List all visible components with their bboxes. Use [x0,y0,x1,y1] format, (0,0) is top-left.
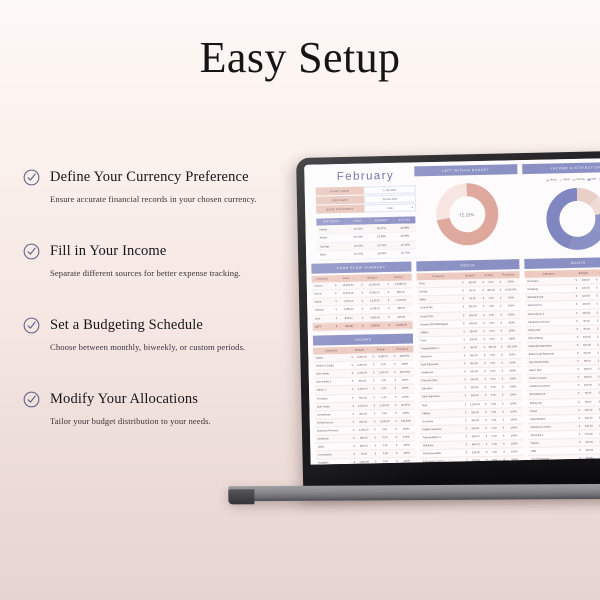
setting-value: 28 Feb 2025 [364,194,416,203]
legend-label: Debt [591,178,596,181]
needs-table-wrap: CategoryBudgetActualProgressRent$100.00$… [417,271,525,464]
laptop-screen: February START DATE1 Feb 2025END DATE28 … [304,158,600,465]
income-distribution-header: INCOME DISTRIBUTION [522,162,600,175]
feature-description: Ensure accurate financial records in you… [50,194,302,204]
feature-item: Modify Your Allocations Tailor your budg… [22,390,302,426]
legend-swatch-icon [588,178,590,180]
feature-item: Set a Budgeting Schedule Choose between … [22,316,302,352]
feature-title: Define Your Currency Preference [50,169,249,186]
feature-description: Choose between monthly, biweekly, or cus… [50,342,302,352]
row-value: 0.00 [486,383,499,391]
row-value: 0.00 [487,400,500,408]
row-value: 0.00 [485,319,498,327]
income-distribution-chart [523,181,600,255]
feature-title: Modify Your Allocations [50,391,198,408]
goal-table-cell: 19.74% [394,249,418,258]
goal-table-wrap: CATEGORYGOALBUDGETACTUALNeeds40.00%55.27… [310,217,411,261]
laptop-base [228,484,600,502]
feature-item: Fill in Your Income Separate different s… [22,242,302,278]
legend-label: Wants [563,178,570,181]
goal-table-cell: 10.00% [347,250,371,259]
feature-title: Set a Budgeting Schedule [50,317,203,334]
legend-item: Savings [573,178,585,181]
income-header: INCOME [313,333,413,346]
needs-table: CategoryBudgetActualProgressRent$100.00$… [417,271,525,464]
goal-table-cell: Debt [317,251,347,260]
feature-list: Define Your Currency Preference Ensure a… [22,168,302,464]
legend-item: Needs [546,179,556,182]
budget-dashboard: February START DATE1 Feb 2025END DATE28 … [304,158,600,465]
income-table: CategoryBudgetActualProgressSalary$3,200… [313,346,416,465]
row-value: 0.00 [487,392,500,400]
row-value: 0.00 [488,448,501,456]
row-value: 0.00 [485,327,498,335]
legend-swatch-icon [560,179,562,181]
budget-percent-label: 72.22% [459,212,475,217]
table-row: Debt10.00%19.04%19.74% [317,249,417,260]
setting-value: 1 Feb 2025 [364,185,416,194]
feature-description: Tailor your budget distribution to your … [50,416,302,426]
wants-table: CategoryBudgetActualProgressGroceries$10… [525,269,600,465]
currency-symbol: $ [596,397,600,405]
total-value: 306.88 [338,322,360,331]
setting-row: BASE CURRENCYUSD [316,203,416,213]
check-circle-icon [22,316,41,335]
wants-header: WANTS [524,256,600,269]
laptop-base-notch [228,489,254,504]
cash-flow-table-wrap: CategoryGoalBudgetActualIncome$19,250.00… [312,274,413,332]
laptop-lid: February START DATE1 Feb 2025END DATE28 … [296,151,600,498]
cash-flow-table: CategoryGoalBudgetActualIncome$19,250.00… [312,274,413,332]
page-title: Easy Setup [0,32,600,83]
setting-label: BASE CURRENCY [316,205,364,214]
needs-header: NEEDS [416,259,519,272]
check-circle-icon [22,390,41,409]
goal-table: CATEGORYGOALBUDGETACTUALNeeds40.00%55.27… [316,216,417,260]
check-circle-icon [22,168,41,187]
cash-flow-header: CASH FLOW SUMMARY [311,261,411,274]
legend-item: Debt [588,178,597,181]
setting-label: START DATE [316,187,364,196]
laptop-mockup: February START DATE1 Feb 2025END DATE28 … [296,151,600,508]
legend-label: Needs [550,179,557,182]
setting-label: END DATE [316,196,364,205]
legend-label: Savings [576,178,585,181]
wants-table-wrap: CategoryBudgetActualProgressGroceries$10… [525,269,600,465]
goal-table-cell: 19.04% [370,250,394,259]
legend-item: Wants [560,178,570,181]
currency-symbol: $ [597,406,600,414]
row-value: 0.00 [485,335,498,343]
total-value: 10,860.70 [390,321,412,330]
check-circle-icon [22,242,41,261]
month-title: February [315,169,415,183]
left-within-budget-chart: 72.22% [414,177,519,251]
feature-item: Define Your Currency Preference Ensure a… [22,168,302,204]
total-label: LEFT [313,322,334,331]
settings-panel: START DATE1 Feb 2025END DATE28 Feb 2025B… [316,185,417,213]
table-total-row: LEFT$306.88$1,288.00$10,860.70 [313,321,413,331]
legend-swatch-icon [546,179,548,181]
legend-swatch-icon [573,179,575,181]
left-within-budget-header: LEFT WITHIN BUDGET [414,164,517,177]
feature-title: Fill in Your Income [50,243,166,260]
income-table-wrap: CategoryBudgetActualProgressSalary$3,200… [313,346,416,465]
currency-select[interactable]: USD [364,203,416,212]
total-value: 1,288.00 [364,321,386,330]
feature-description: Separate different sources for better ex… [50,268,302,278]
